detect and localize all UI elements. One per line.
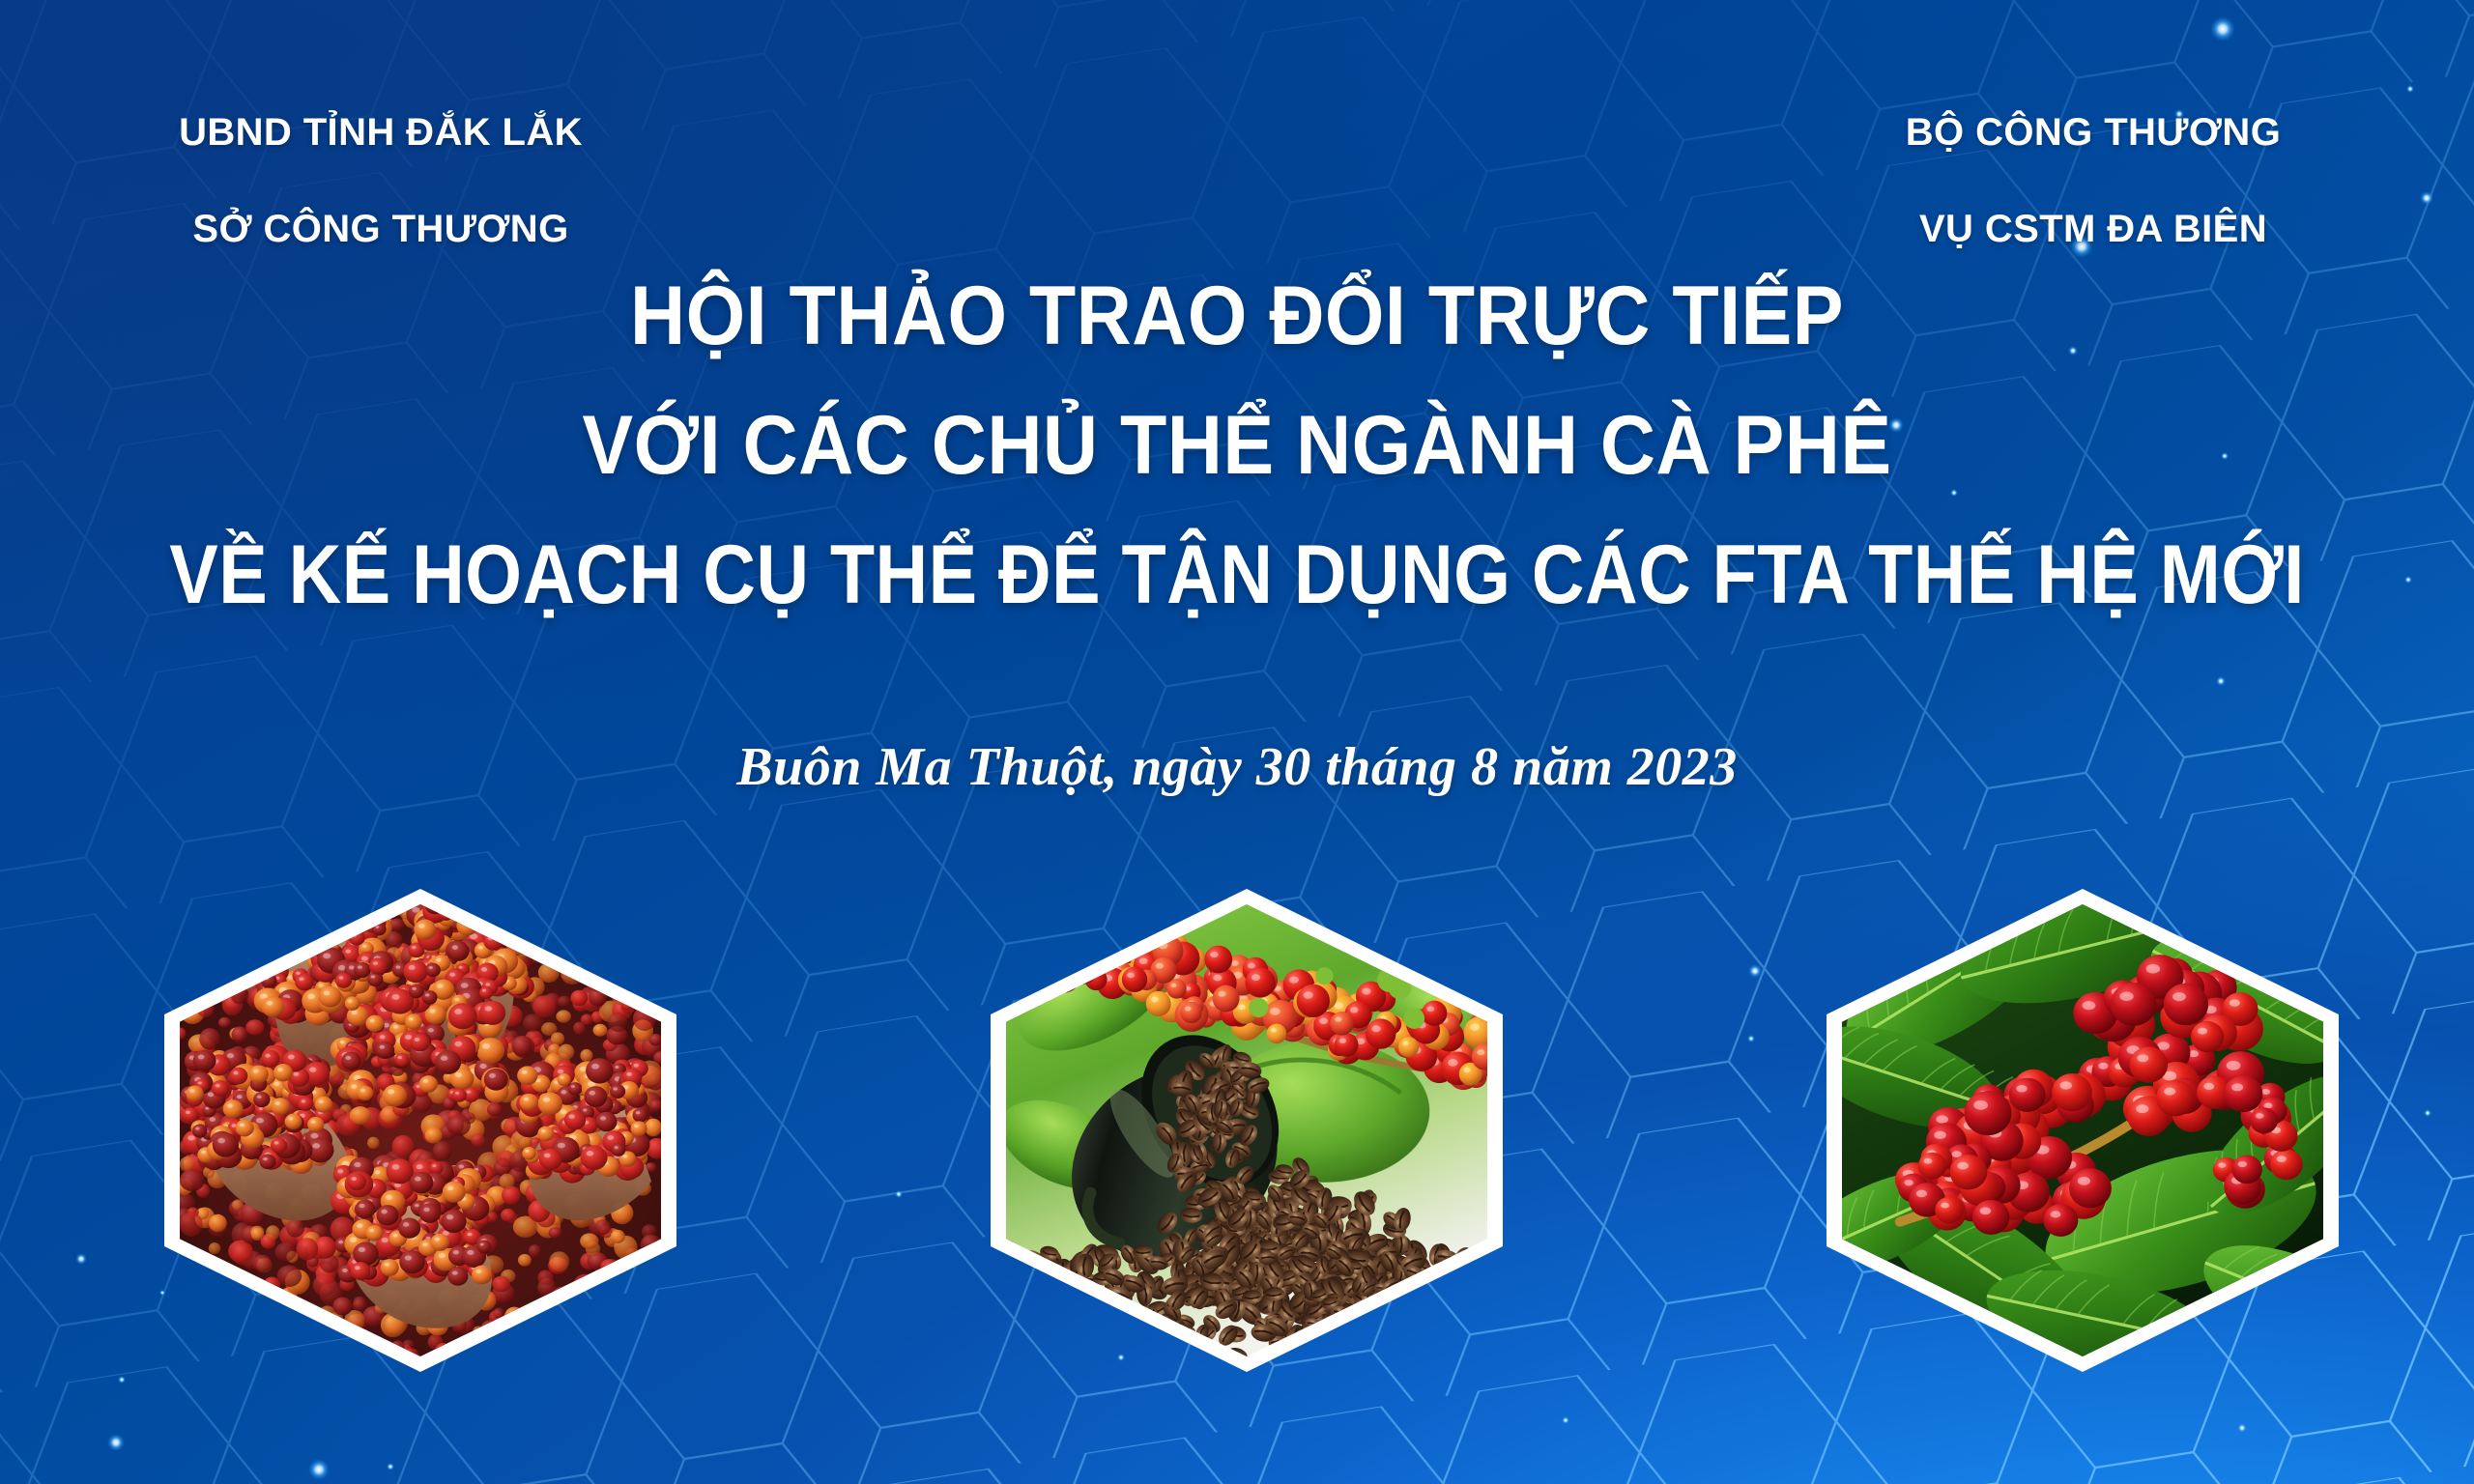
title-line-2: VỚI CÁC CHỦ THỂ NGÀNH CÀ PHÊ xyxy=(99,392,2374,500)
hexagon-photo-roasted-beans-cup xyxy=(991,889,1503,1372)
hexagon-photo-hands-coffee-cherries xyxy=(164,889,676,1372)
title-line-1: HỘI THẢO TRAO ĐỔI TRỰC TIẾP xyxy=(99,263,2374,371)
page-title: HỘI THẢO TRAO ĐỔI TRỰC TIẾP VỚI CÁC CHỦ … xyxy=(0,263,2474,629)
title-line-3: VỀ KẾ HOẠCH CỤ THỂ ĐỂ TẬN DỤNG CÁC FTA T… xyxy=(149,522,2326,630)
conference-banner: UBND TỈNH ĐẮK LẮK SỞ CÔNG THƯƠNG BỘ CÔNG… xyxy=(0,0,2474,1484)
left-org-line2: SỞ CÔNG THƯƠNG xyxy=(52,205,709,253)
photo-hexagon-row xyxy=(0,889,2474,1391)
hexagon-photo-coffee-branch-red-cherries xyxy=(1827,889,2339,1372)
right-org-line1: BỘ CÔNG THƯƠNG xyxy=(1765,108,2422,157)
left-org-line1: UBND TỈNH ĐẮK LẮK xyxy=(52,108,709,157)
right-org-line2: VỤ CSTM ĐA BIÊN xyxy=(1765,205,2422,253)
event-date-location: Buôn Ma Thuột, ngày 30 tháng 8 năm 2023 xyxy=(0,736,2474,798)
